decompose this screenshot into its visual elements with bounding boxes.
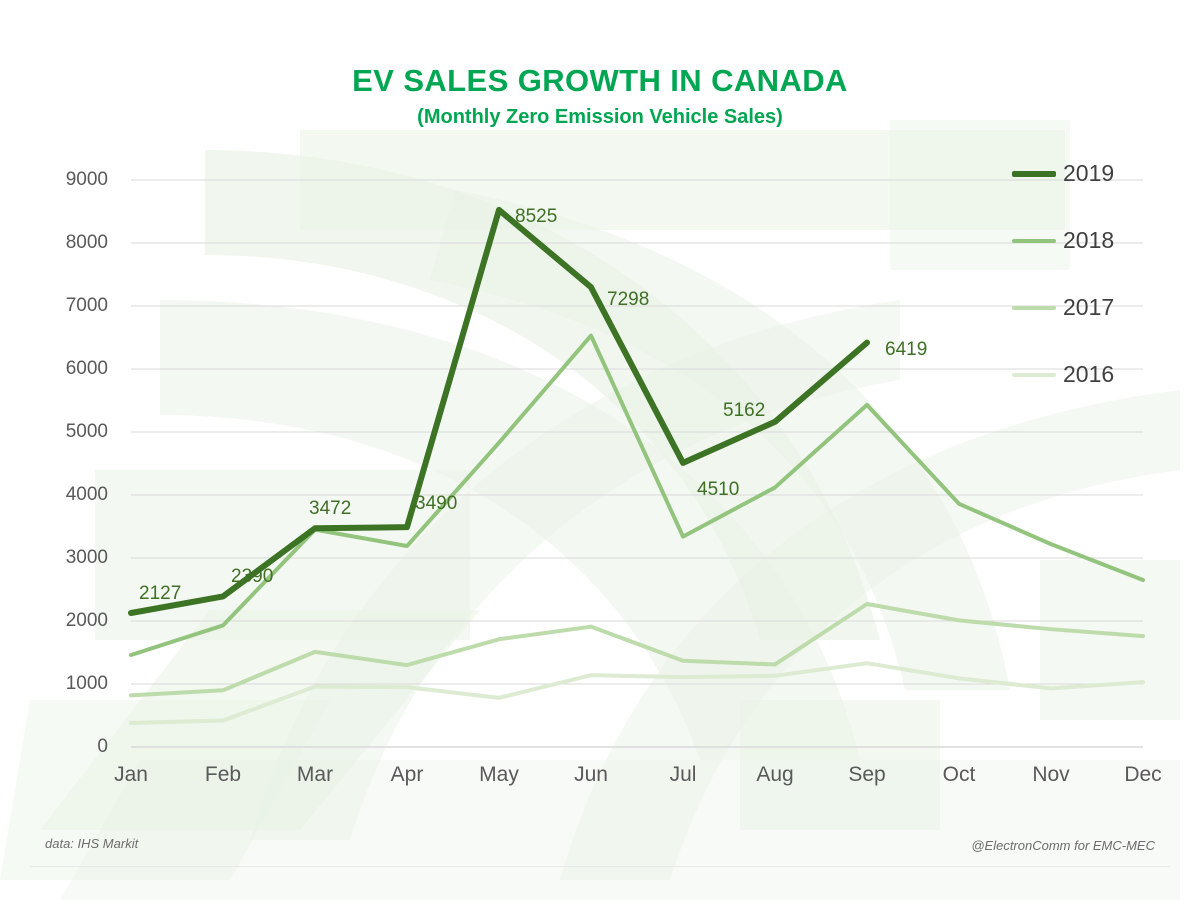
title-block: EV SALES GROWTH IN CANADA (Monthly Zero … — [0, 64, 1200, 128]
data-label: 4510 — [697, 479, 739, 501]
page-subtitle: (Monthly Zero Emission Vehicle Sales) — [0, 106, 1200, 128]
page-title: EV SALES GROWTH IN CANADA — [0, 64, 1200, 98]
data-label: 2390 — [231, 566, 273, 588]
x-axis-tick: Dec — [1088, 763, 1198, 787]
legend-label: 2016 — [1063, 363, 1114, 386]
legend-label: 2017 — [1063, 296, 1114, 319]
y-axis-tick: 2000 — [28, 610, 108, 632]
chart-canvas: EV SALES GROWTH IN CANADA (Monthly Zero … — [0, 0, 1200, 900]
legend-item-2017[interactable]: 2017 — [1012, 296, 1114, 319]
y-axis-tick: 8000 — [28, 232, 108, 254]
y-axis-tick: 6000 — [28, 358, 108, 380]
y-axis-tick: 9000 — [28, 169, 108, 191]
y-axis-tick: 0 — [28, 736, 108, 758]
source-note: data: IHS Markit — [45, 836, 138, 851]
legend-item-2019[interactable]: 2019 — [1012, 162, 1114, 185]
y-axis-tick: 5000 — [28, 421, 108, 443]
footer-divider — [30, 866, 1170, 867]
legend-swatch-icon — [1012, 373, 1056, 377]
data-label: 5162 — [723, 400, 765, 422]
data-label: 3490 — [415, 493, 457, 515]
legend-label: 2019 — [1063, 162, 1114, 185]
legend-item-2016[interactable]: 2016 — [1012, 363, 1114, 386]
credit-note: @ElectronComm for EMC-MEC — [971, 838, 1155, 853]
data-label: 6419 — [885, 339, 927, 361]
y-axis-tick: 1000 — [28, 673, 108, 695]
data-label: 7298 — [607, 289, 649, 311]
y-axis-tick: 7000 — [28, 295, 108, 317]
y-axis-tick: 4000 — [28, 484, 108, 506]
data-label: 8525 — [515, 206, 557, 228]
y-axis-tick: 3000 — [28, 547, 108, 569]
data-label: 2127 — [139, 583, 181, 605]
legend-swatch-icon — [1012, 239, 1056, 243]
legend-item-2018[interactable]: 2018 — [1012, 229, 1114, 252]
legend-swatch-icon — [1012, 171, 1056, 177]
data-label: 3472 — [309, 498, 351, 520]
series-line-2016[interactable] — [131, 663, 1143, 723]
legend-swatch-icon — [1012, 306, 1056, 310]
legend-label: 2018 — [1063, 229, 1114, 252]
